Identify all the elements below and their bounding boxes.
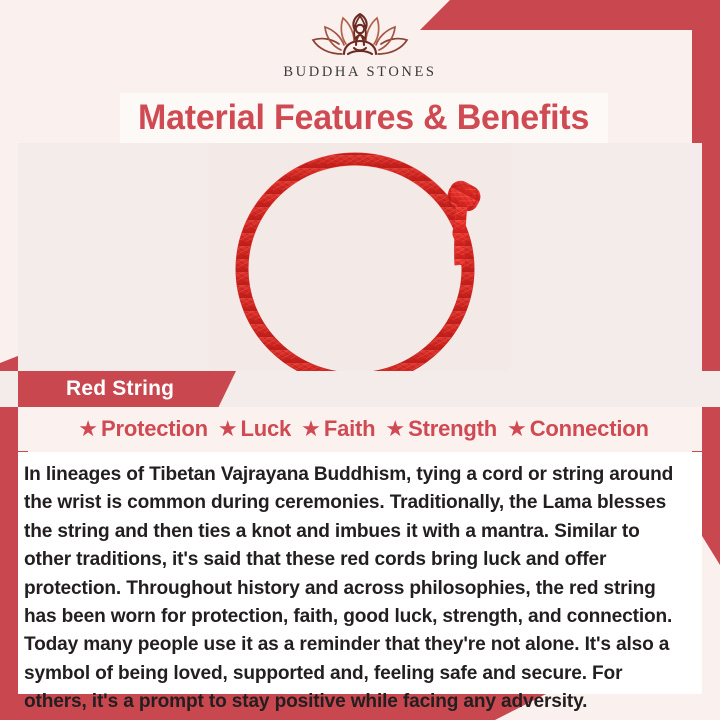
hero-image-area (18, 143, 702, 371)
benefit-label: Faith (324, 416, 376, 442)
benefit-label: Strength (408, 416, 497, 442)
benefit-label: Protection (101, 416, 208, 442)
title-band: Material Features & Benefits (120, 93, 608, 143)
product-name-banner: Red String (18, 371, 236, 407)
brand-wordmark: BUDDHA STONES (283, 64, 436, 81)
benefit-item-faith: ★ Faith (294, 416, 375, 442)
star-icon: ★ (301, 418, 321, 440)
page-title: Material Features & Benefits (138, 98, 589, 138)
product-name-row: Red String (0, 371, 720, 407)
star-icon: ★ (507, 418, 527, 440)
description-panel: In lineages of Tibetan Vajrayana Buddhis… (18, 452, 702, 694)
product-photo (210, 143, 510, 371)
description-paragraph: In lineages of Tibetan Vajrayana Buddhis… (24, 460, 680, 716)
infographic-page: BUDDHA STONES Material Features & Benefi… (0, 0, 720, 720)
star-icon: ★ (218, 418, 238, 440)
benefits-row: ★ Protection ★ Luck ★ Faith ★ Strength ★… (18, 407, 702, 451)
benefit-item-luck: ★ Luck (211, 416, 291, 442)
product-name-label: Red String (66, 377, 174, 401)
benefit-label: Luck (241, 416, 292, 442)
benefit-item-protection: ★ Protection (71, 416, 208, 442)
brand-logo: BUDDHA STONES (0, 10, 720, 92)
benefit-item-connection: ★ Connection (500, 416, 649, 442)
star-icon: ★ (78, 418, 98, 440)
benefit-item-strength: ★ Strength (378, 416, 497, 442)
star-icon: ★ (385, 418, 405, 440)
lotus-meditation-icon (308, 10, 412, 62)
benefit-label: Connection (530, 416, 649, 442)
